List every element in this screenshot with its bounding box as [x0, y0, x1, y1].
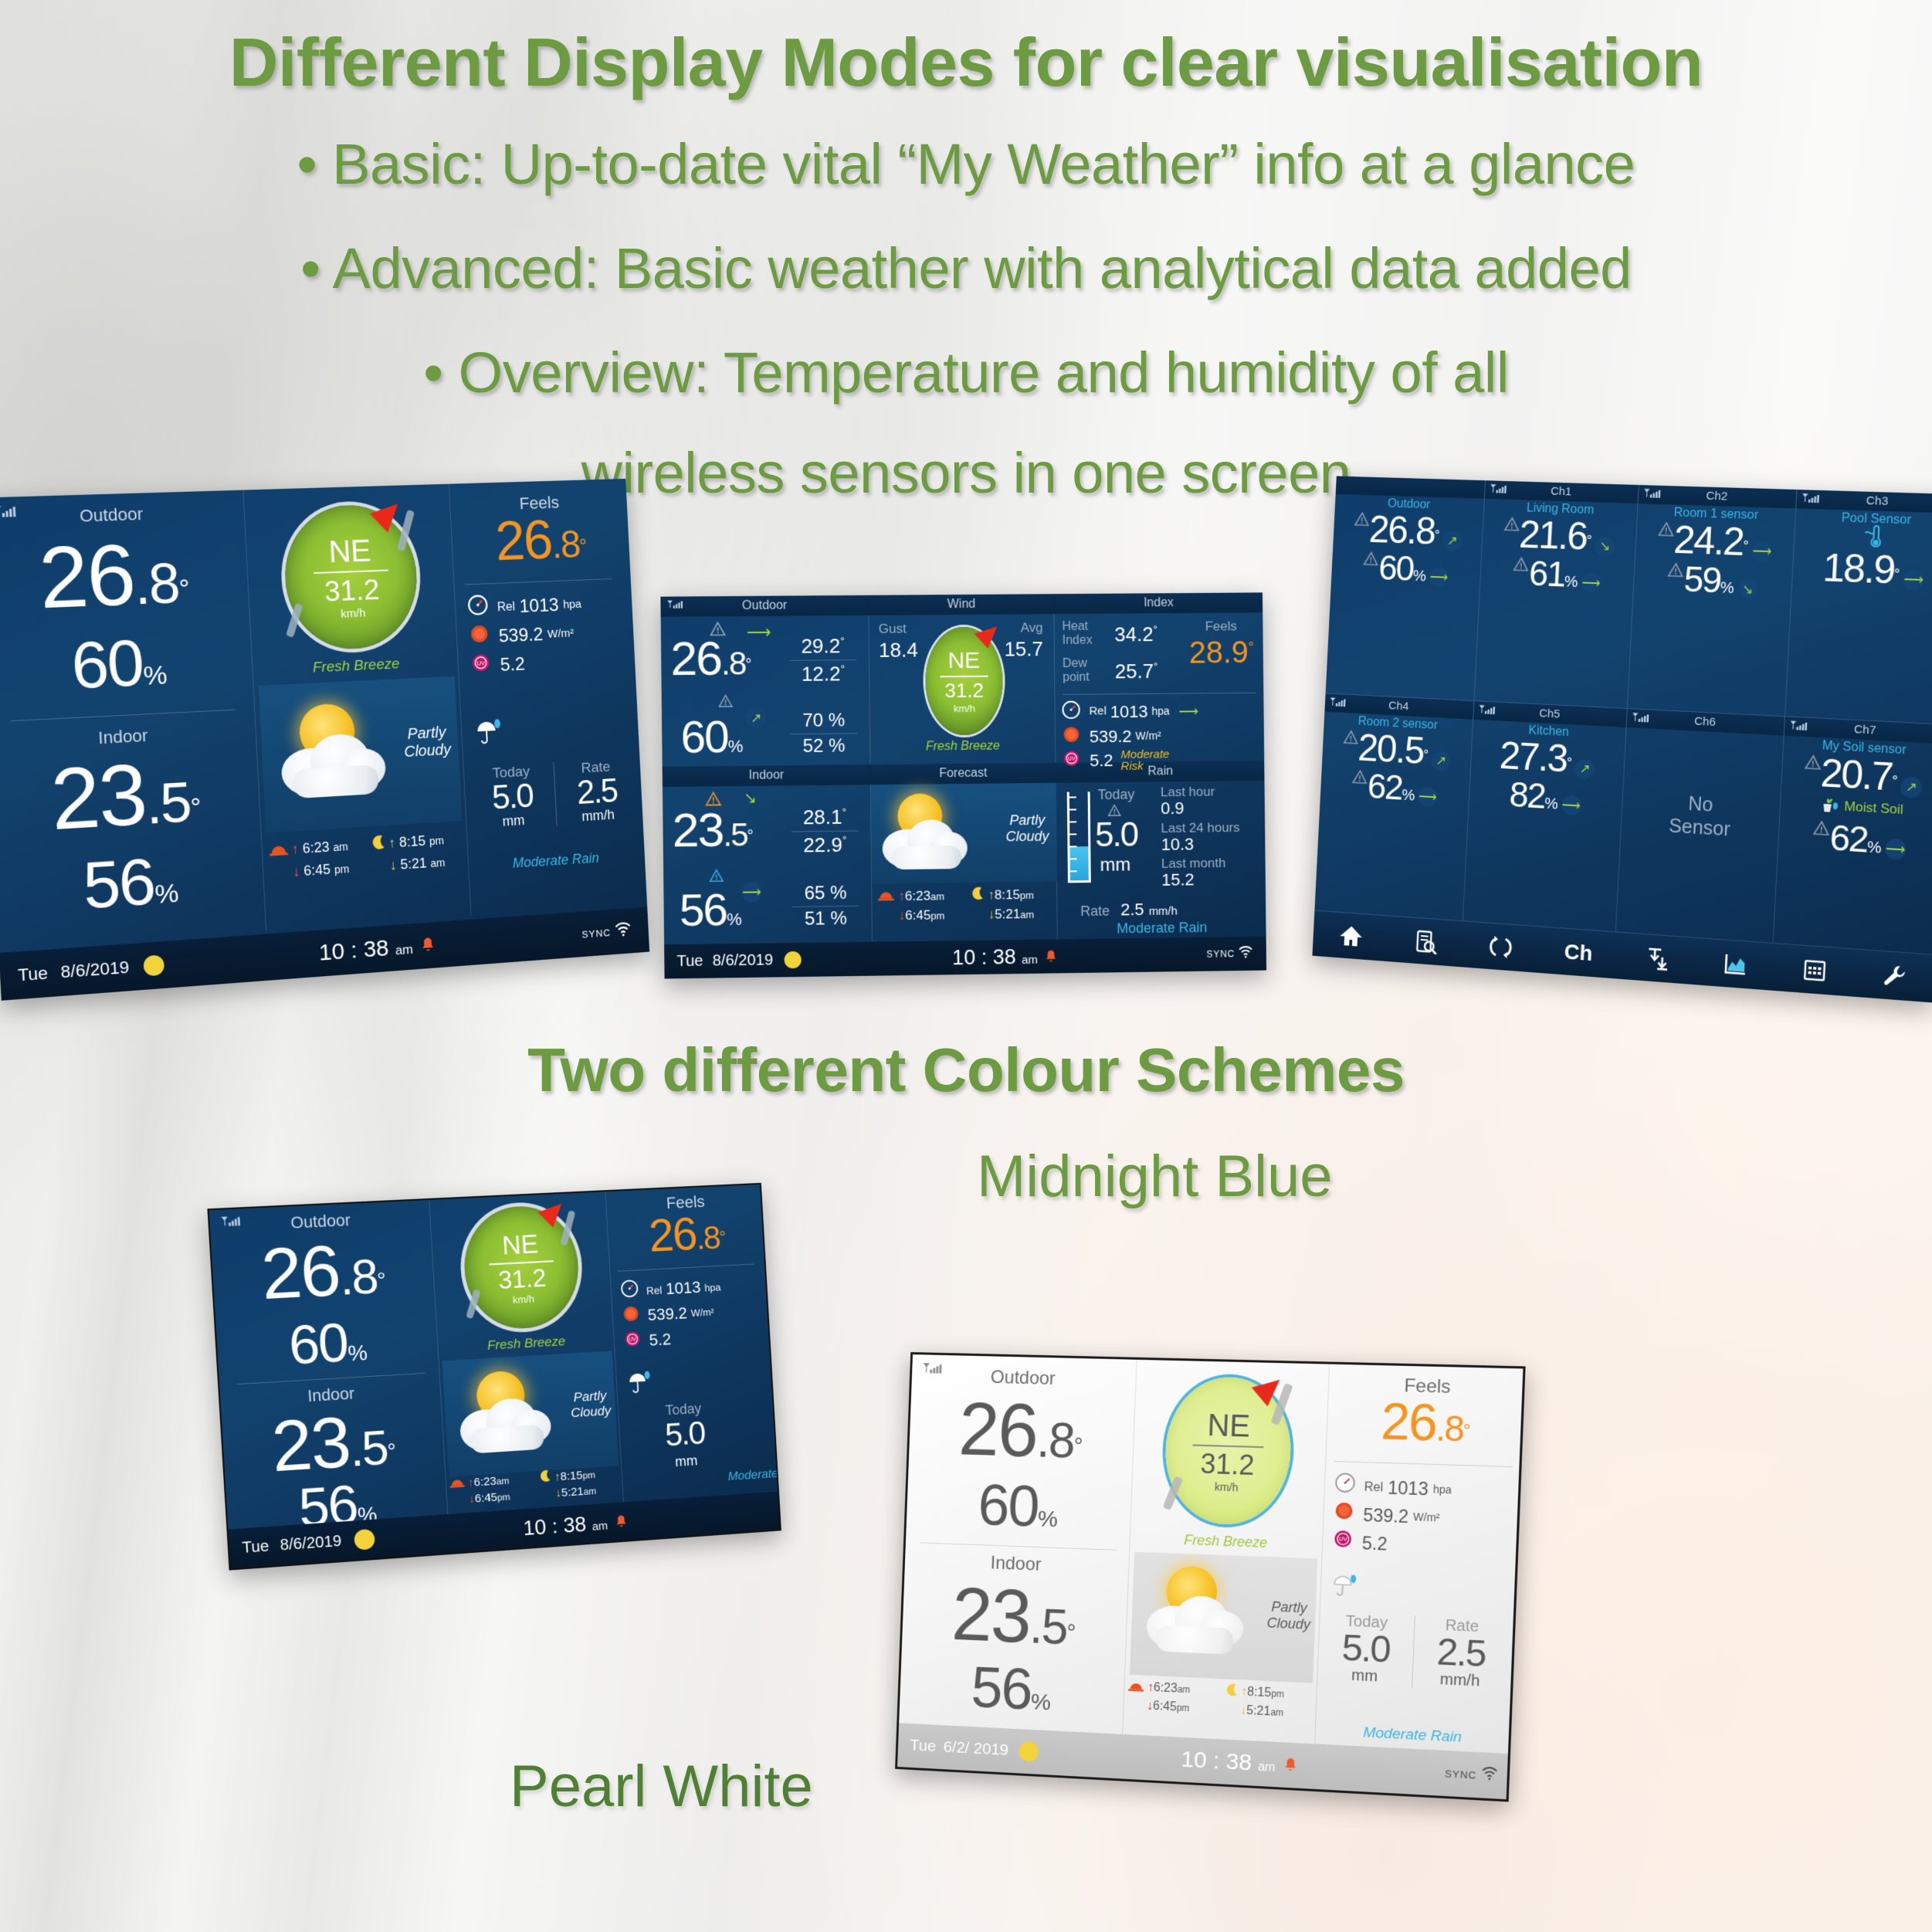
advanced-weather-display[interactable]: Outdoor Wind Index ⟶ 26.8° 29.2° 12.2° ↗ [660, 592, 1266, 978]
alert-triangle-icon [1657, 527, 1675, 541]
settings-wrench-icon[interactable] [1881, 962, 1907, 989]
wind-direction-needle [370, 494, 408, 532]
sunrise-time: 6:23 [473, 1474, 497, 1489]
sunset-time: 6:45 [905, 908, 930, 923]
forecast-text-line1: Partly [403, 724, 451, 744]
heat-index-value: 34.2 [1114, 622, 1154, 646]
wind-direction: NE [328, 534, 372, 570]
degree-symbol: ° [1566, 755, 1572, 771]
rain-last-hour-label: Last hour [1161, 784, 1260, 799]
clock-separator: : [1212, 1748, 1220, 1774]
indoor-temp-min: 22.9 [803, 833, 842, 857]
alert-triangle-icon [1667, 567, 1685, 581]
clock-separator: : [981, 945, 988, 968]
degree-symbol: ° [1066, 1619, 1076, 1645]
solar-value: 539.2 [498, 622, 544, 650]
rain-rate-label: Rate [1080, 903, 1110, 919]
wind-compass: NE 31.2 km/h [1163, 1376, 1293, 1527]
clock-hours: 10 [1181, 1747, 1207, 1774]
indoor-temp-max: 28.1 [803, 805, 842, 829]
forecast-panel[interactable]: Partly Cloudy [442, 1351, 619, 1477]
moon-phase-icon [1019, 1741, 1039, 1762]
overview-tile-humidity: 62 [1367, 766, 1403, 807]
heat-index-label-line2: Index [1063, 634, 1093, 648]
partly-cloudy-icon [273, 697, 394, 811]
overview-tile-channel: Ch2 [1706, 490, 1728, 503]
degree-symbol: ° [1586, 533, 1592, 548]
rain-rate-unit: mm/h [1149, 905, 1178, 918]
solar-radiation-icon [1062, 724, 1090, 749]
overview-tile-humidity: 61 [1528, 553, 1566, 594]
rain-rate-value: 2.5 [1413, 1634, 1510, 1674]
wind-direction-needle [974, 619, 1004, 649]
feels-label: Feels [1205, 619, 1237, 634]
home-icon[interactable] [1338, 923, 1364, 948]
moonset-time: 5:21 [995, 907, 1020, 921]
overview-tile-temperature: 27.3 [1499, 734, 1568, 780]
signal-bars-icon [1642, 488, 1662, 507]
overview-tile[interactable]: Ch4Room 2 sensor20.5° ↗62% ⟶ [1314, 693, 1474, 921]
pressure-value: 1013 [519, 592, 559, 619]
overview-tile-channel: Ch4 [1388, 699, 1409, 713]
status-date: 8/6/2019 [60, 958, 130, 983]
clock-hours: 10 [952, 945, 975, 968]
outdoor-label: Outdoor [0, 501, 244, 530]
alert-triangle-icon [705, 791, 722, 810]
clock-minutes: 38 [363, 935, 389, 962]
outdoor-humidity: 60 [977, 1473, 1039, 1539]
sunset-time: 6:45 [303, 862, 331, 879]
degree-symbol: ° [1743, 537, 1749, 553]
overview-tile-temperature: 18.9 [1822, 545, 1895, 592]
moon-phase-icon [354, 1529, 375, 1551]
pressure-unit: hpa [1432, 1481, 1452, 1497]
dew-point-label-line1: Dew [1063, 657, 1090, 671]
basic-weather-display[interactable]: Outdoor 26.8° 60% Indoor 23.5° 56% NE [0, 479, 649, 1001]
outdoor-temperature: 26 [36, 527, 136, 627]
overview-tile-humidity-unit: % [1412, 568, 1426, 585]
moonset-ampm: am [583, 1486, 596, 1497]
overview-tile-humidity-unit: % [1720, 579, 1734, 597]
rain-last24-value: 10.3 [1161, 834, 1261, 854]
uv-value: 5.2 [500, 652, 526, 679]
sunset-ampm: pm [930, 910, 944, 921]
rain-description: Moderate Rain [1058, 919, 1266, 937]
status-day: Tue [18, 963, 49, 985]
wind-description: Fresh Breeze [1130, 1530, 1322, 1554]
indoor-humidity-min: 51 % [792, 908, 859, 930]
overview-tile-humidity-unit: % [1564, 573, 1578, 591]
pressure-prefix: Rel [497, 598, 516, 616]
partly-cloudy-icon [1142, 1561, 1250, 1664]
degree-symbol: ° [1073, 1433, 1083, 1459]
overview-tile-humidity: 60 [1378, 547, 1414, 588]
wind-direction: NE [1207, 1408, 1251, 1445]
wind-speed-unit: km/h [512, 1293, 534, 1305]
pressure-trend-icon: ⟶ [1178, 704, 1198, 718]
degree-symbol: ° [745, 656, 751, 673]
panel-title-outdoor: Outdoor [742, 599, 787, 612]
solar-unit: W/m² [690, 1306, 714, 1320]
sunset-time: 6:45 [474, 1491, 497, 1506]
panel-title-forecast: Forecast [871, 763, 1056, 785]
overview-tile[interactable]: Ch1Living Room21.6° ↘61% ⟶ [1474, 480, 1639, 709]
pressure-unit: hpa [704, 1280, 721, 1295]
rain-last-month-label: Last month [1161, 856, 1261, 871]
panel-title-index: Index [1054, 592, 1263, 614]
soil-moisture-label: Moist Soil [1844, 798, 1904, 818]
minmax-icon[interactable] [1645, 945, 1669, 971]
forecast-text-line2: Cloudy [571, 1403, 612, 1421]
signal-bars-icon [1478, 704, 1496, 724]
avg-value: 15.7 [1004, 637, 1043, 661]
solar-unit: W/m² [1413, 1509, 1440, 1526]
moonrise-time: 8:15 [399, 833, 426, 850]
pressure-value: 1013 [1110, 701, 1148, 723]
overview-weather-display[interactable]: Outdoor26.8° ↗60% ⟶Ch1Living Room21.6° ↘… [1312, 476, 1932, 1003]
clock-minutes: 38 [993, 945, 1016, 968]
outdoor-temperature: 26 [958, 1387, 1039, 1473]
degree-symbol: ° [579, 534, 588, 557]
uv-index-icon: UV [469, 652, 500, 682]
wind-speed-unit: km/h [954, 703, 975, 714]
overview-tile[interactable]: Outdoor26.8° ↗60% ⟶ [1326, 476, 1486, 702]
uv-index-icon: UV [1332, 1528, 1363, 1557]
sync-label: SYNC [1445, 1768, 1477, 1781]
overview-tile[interactable]: Ch3Pool Sensor18.9° ⟶ [1785, 490, 1932, 725]
bullet-overview: • Overview: Temperature and humidity of … [0, 340, 1932, 405]
signal-bars-icon [221, 1215, 242, 1234]
overview-tile-humidity-unit: % [1402, 787, 1415, 805]
clock-separator: : [551, 1514, 558, 1537]
forecast-text-line2: Cloudy [1266, 1615, 1310, 1632]
outdoor-humidity: 60 [680, 712, 728, 763]
indoor-humidity: 56 [970, 1655, 1032, 1722]
rain-last-hour-value: 0.9 [1161, 798, 1260, 819]
wind-speed: 31.2 [944, 679, 984, 703]
overview-tile-humidity: 62 [1829, 816, 1869, 859]
clock-hours: 10 [318, 938, 345, 965]
alert-triangle-icon [717, 694, 733, 712]
pressure-unit: hpa [1151, 705, 1169, 719]
forecast-text-line1: Partly [1267, 1598, 1311, 1616]
overview-humidity-trend-icon: ⟶ [1429, 567, 1449, 587]
outdoor-label: Outdoor [209, 1208, 430, 1237]
forecast-panel[interactable]: Partly Cloudy [1130, 1552, 1317, 1683]
alert-triangle-icon [1363, 556, 1380, 569]
indoor-label: Indoor [220, 1380, 441, 1412]
forecast-text-line1: Partly [1005, 812, 1049, 829]
moon-icon [1222, 1682, 1242, 1701]
divider [11, 710, 236, 722]
status-day: Tue [242, 1537, 269, 1557]
status-date: 8/6/2019 [280, 1532, 342, 1554]
wind-direction: NE [501, 1229, 539, 1261]
overview-tile-temperature: 26.8 [1368, 508, 1436, 553]
wind-speed: 31.2 [1200, 1447, 1255, 1481]
sunrise-time: 6:23 [1154, 1681, 1178, 1695]
moonset-time: 5:21 [400, 856, 427, 873]
overview-tile[interactable]: Ch7My Soil sensor20.7° ↗Moist Soil62% ⟶ [1773, 717, 1932, 955]
indoor-humidity-unit: % [1030, 1690, 1051, 1716]
indoor-humidity-max: 65 % [792, 883, 859, 905]
avg-label: Avg [1021, 620, 1043, 636]
divider [920, 1542, 1117, 1550]
rain-today-value: 5.0 [469, 779, 556, 816]
moonset-ampm: am [1020, 909, 1034, 920]
alert-triangle-icon [709, 869, 724, 886]
sunrise-sunset-icon [873, 887, 898, 905]
moonrise-ampm: pm [1271, 1688, 1284, 1700]
dew-point-value: 25.7 [1115, 659, 1154, 683]
label-pearl-white: Pearl White [510, 1753, 813, 1820]
wind-speed: 31.2 [324, 573, 380, 608]
moonrise-ampm: pm [1020, 889, 1034, 900]
rain-description: Moderate [727, 1467, 778, 1484]
alert-triangle-icon [709, 621, 726, 640]
overview-tile-channel: Ch7 [1854, 723, 1876, 737]
overview-humidity-trend-icon: ⟶ [1581, 573, 1602, 594]
outdoor-temp-trend-icon: ⟶ [747, 624, 771, 641]
sunrise-sunset-icon [446, 1475, 468, 1492]
history-search-icon[interactable] [1414, 929, 1439, 955]
feels-temperature-decimal: .8 [551, 523, 580, 566]
overview-tile[interactable]: Ch2Room 1 sensor24.2° ⟶59% ↘ [1628, 485, 1798, 717]
clock-ampm: am [1022, 953, 1038, 966]
overview-humidity-trend-icon: ↘ [1737, 578, 1758, 599]
signal-bars-icon [1329, 697, 1347, 716]
calendar-icon[interactable] [1802, 958, 1826, 983]
degree-symbol: ° [747, 828, 754, 845]
uv-index-icon: UV [1062, 749, 1090, 774]
indoor-humidity: 56 [81, 844, 156, 923]
svg-text:UV: UV [629, 1337, 636, 1342]
clock-minutes: 38 [1225, 1749, 1252, 1776]
wind-compass: NE 31.2 km/h [282, 503, 420, 652]
overview-tile-temperature: 24.2 [1673, 518, 1744, 564]
moon-icon [968, 886, 988, 905]
sunrise-sunset-icon [1124, 1678, 1147, 1696]
divider [940, 676, 988, 678]
rain-today-label: Today [1320, 1612, 1414, 1633]
overview-tile-channel: Ch5 [1539, 707, 1561, 720]
outdoor-humidity-trend-icon: ↗ [746, 707, 766, 727]
outdoor-temp-min: 12.2 [802, 662, 841, 686]
degree-symbol: ° [1893, 566, 1900, 582]
indoor-humidity-trend-icon: ⟶ [741, 882, 761, 902]
overview-humidity-trend-icon: ⟶ [1884, 839, 1907, 860]
refresh-icon[interactable] [1489, 934, 1513, 961]
indoor-humidity-unit: % [727, 910, 742, 929]
rain-rate-label: Rate [1414, 1615, 1510, 1638]
signal-bars-icon [1489, 483, 1507, 502]
barometer-icon [467, 594, 498, 624]
partly-cloudy-icon [453, 1365, 557, 1464]
wind-speed-unit: km/h [341, 606, 366, 620]
divider [618, 1264, 754, 1272]
divider [465, 578, 612, 585]
pressure-prefix: Rel [1364, 1478, 1383, 1496]
svg-text:UV: UV [476, 659, 486, 666]
divider [237, 1373, 425, 1385]
sync-label: SYNC [1206, 948, 1235, 959]
overview-tile[interactable]: Ch5Kitchen27.3° ↗82% ⟶ [1463, 701, 1628, 932]
moonrise-ampm: pm [429, 834, 445, 847]
outdoor-temperature: 26 [259, 1231, 342, 1314]
indoor-humidity-unit: % [154, 878, 180, 910]
feels-temperature-decimal: .8 [695, 1219, 720, 1256]
midnight-blue-display[interactable]: Outdoor 26.8° 60% Indoor 23.5° 56% NE [207, 1183, 781, 1571]
overview-temp-trend-icon: ↗ [1900, 776, 1923, 798]
channel-button[interactable]: Ch [1564, 940, 1593, 966]
outdoor-temperature-decimal: .8 [1035, 1412, 1075, 1469]
signal-bars-icon [0, 505, 19, 526]
indoor-temperature-decimal: .5 [348, 1421, 388, 1477]
feels-temperature: 26 [494, 510, 554, 572]
panel-title-wind: Wind [869, 594, 1054, 615]
outdoor-humidity: 60 [287, 1312, 349, 1376]
indoor-temperature-decimal: .5 [1029, 1598, 1068, 1655]
degree-symbol: ° [1249, 639, 1254, 655]
alarm-bell-icon [1284, 1752, 1296, 1778]
degree-symbol: ° [719, 1228, 727, 1247]
moonset-ampm: am [1270, 1707, 1283, 1718]
degree-symbol: ° [190, 792, 202, 822]
solar-unit: W/m² [1135, 729, 1161, 743]
moonrise-time: 8:15 [995, 887, 1020, 902]
feels-temperature-decimal: .8 [1435, 1408, 1463, 1449]
wifi-sync-icon [1237, 944, 1254, 963]
outdoor-humidity: 60 [69, 625, 144, 703]
overview-tile-channel: Ch3 [1866, 494, 1889, 508]
uv-value: 5.2 [1361, 1530, 1388, 1557]
solar-value: 539.2 [647, 1303, 688, 1327]
signal-bars-icon [667, 599, 684, 615]
alert-triangle-icon [1513, 561, 1530, 575]
uv-risk-line1: Moderate [1120, 748, 1169, 761]
pool-thermometer-icon [1794, 523, 1932, 556]
umbrella-rain-icon [1331, 1573, 1357, 1602]
barometer-icon [1334, 1472, 1364, 1501]
pressure-unit: hpa [563, 597, 582, 614]
overview-humidity-trend-icon: ⟶ [1418, 786, 1438, 807]
solar-radiation-icon [622, 1303, 649, 1330]
rain-rate-value: 2.5 [1120, 900, 1144, 919]
status-date: 6/2/ 2019 [943, 1738, 1008, 1760]
feels-temperature: 26 [1380, 1392, 1437, 1452]
dew-point-label-line2: point [1063, 671, 1090, 685]
indoor-temperature: 23 [951, 1571, 1032, 1659]
indoor-temperature-decimal: .5 [144, 771, 192, 836]
degree-symbol: ° [1423, 747, 1429, 762]
degree-symbol: ° [1463, 1420, 1471, 1442]
forecast-text-line2: Cloudy [1005, 829, 1049, 845]
sunrise-ampm: am [333, 840, 348, 853]
overview-tile-name: My Soil sensor [1784, 737, 1932, 760]
heat-index-label-line1: Heat [1062, 620, 1092, 634]
indoor-temperature-decimal: .5 [723, 816, 747, 853]
graph-icon[interactable] [1722, 951, 1748, 978]
moon-icon [536, 1469, 555, 1486]
sunrise-sunset-icon [265, 840, 292, 861]
overview-tile-humidity: 59 [1683, 558, 1721, 600]
rain-description: Moderate Rain [1315, 1722, 1510, 1749]
sunrise-time: 6:23 [905, 888, 930, 903]
degree-symbol: ° [387, 1439, 397, 1463]
moonset-ampm: am [430, 856, 446, 869]
clock-separator: : [350, 937, 358, 963]
overview-tile-name: Room 1 sensor [1638, 505, 1796, 524]
bullet-basic: • Basic: Up-to-date vital “My Weather” i… [0, 131, 1932, 197]
uv-value: 5.2 [1090, 751, 1113, 772]
colour-schemes-title: Two different Colour Schemes [0, 1035, 1932, 1106]
svg-text:UV: UV [1068, 756, 1076, 762]
gust-value: 18.4 [879, 638, 918, 662]
rain-last24-label: Last 24 hours [1161, 819, 1260, 835]
overview-tile-temperature: 21.6 [1518, 513, 1588, 558]
svg-text:UV: UV [1339, 1536, 1348, 1544]
bullet-advanced: • Advanced: Basic weather with analytica… [0, 236, 1932, 301]
alert-triangle-icon [1503, 521, 1520, 535]
degree-symbol: ° [1434, 527, 1440, 543]
overview-temp-trend-icon: ↗ [1431, 751, 1451, 771]
rain-today-unit: mm [1100, 854, 1130, 876]
pearl-white-display[interactable]: Outdoor 26.8° 60% Indoor 23.5° 56% NE [895, 1352, 1526, 1802]
divider [1193, 1444, 1264, 1448]
plant-pot-icon [1818, 794, 1840, 818]
overview-tile-temperature: 20.7 [1819, 751, 1893, 799]
overview-tile-name: Pool Sensor [1795, 510, 1932, 529]
feels-label: Feels [1329, 1374, 1526, 1401]
overview-tile-channel: Ch1 [1551, 485, 1572, 499]
overview-tile[interactable]: Ch6NoSensor [1616, 709, 1785, 944]
indoor-temperature: 23 [49, 746, 148, 848]
wind-speed: 31.2 [497, 1263, 547, 1294]
umbrella-rain-icon [475, 718, 503, 749]
sunset-ampm: pm [1177, 1702, 1190, 1713]
rain-today-unit: mm [1317, 1665, 1412, 1687]
wind-description: Fresh Breeze [253, 653, 458, 680]
wind-description: Fresh Breeze [870, 739, 1055, 754]
feels-temperature: 28.9 [1188, 636, 1249, 669]
outdoor-temperature-decimal: .8 [721, 645, 746, 681]
divider [1334, 1461, 1513, 1467]
no-sensor-line2: Sensor [1621, 812, 1779, 845]
indoor-humidity-unit: % [357, 1502, 378, 1527]
forecast-panel[interactable]: Partly Cloudy [871, 783, 1057, 884]
solar-radiation-icon [469, 622, 500, 652]
moon-icon [368, 833, 389, 855]
uv-value: 5.2 [649, 1329, 672, 1352]
moonset-time: 5:21 [1246, 1704, 1271, 1719]
overview-tile-humidity-unit: % [1866, 839, 1882, 857]
rain-today-label: Today [1097, 787, 1134, 803]
clock-minutes: 38 [563, 1512, 587, 1537]
moonrise-time: 8:15 [1247, 1686, 1272, 1700]
indoor-humidity: 56 [297, 1474, 359, 1539]
clock-ampm: am [591, 1519, 608, 1533]
compass-arc [1163, 1476, 1184, 1510]
rain-rate-value: 2.5 [554, 774, 639, 810]
forecast-panel[interactable]: Partly Cloudy [259, 676, 463, 833]
alarm-bell-icon [1046, 944, 1056, 968]
signal-bars-icon [1631, 712, 1650, 731]
alert-triangle-icon [1803, 760, 1821, 774]
partly-cloudy-icon [879, 790, 972, 877]
solar-value: 539.2 [1090, 726, 1132, 747]
sunset-time: 6:45 [1153, 1700, 1177, 1713]
wind-direction-needle [538, 1196, 570, 1228]
